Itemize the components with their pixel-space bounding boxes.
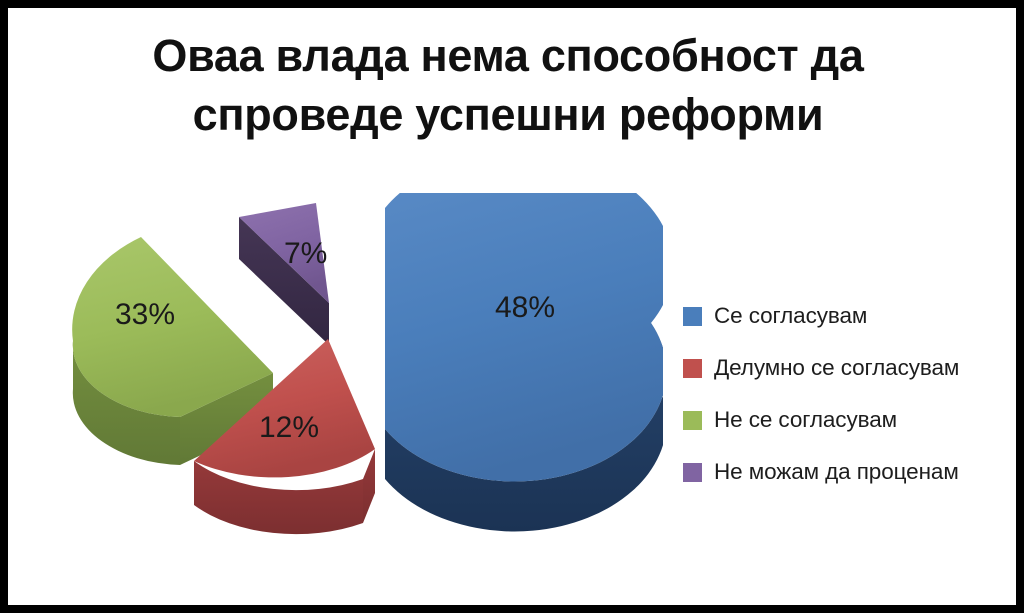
pie-chart-graphic: [63, 193, 663, 583]
legend-swatch-icon: [683, 463, 702, 482]
pie-slice-ne-mozam-da-procenam[interactable]: [239, 203, 329, 345]
pie-slice-blue-top: [385, 193, 663, 481]
legend-item-ne-mozam-da-procenam[interactable]: Не можам да проценам: [683, 446, 1003, 498]
pie-slice-se-soglasuvam[interactable]: [385, 193, 663, 531]
legend-label: Делумно се согласувам: [714, 355, 959, 381]
legend-item-se-soglasuvam[interactable]: Се согласувам: [683, 290, 1003, 342]
pie-slice-red-side-right: [363, 449, 375, 523]
legend-label: Не можам да проценам: [714, 459, 959, 485]
legend-label: Се согласувам: [714, 303, 867, 329]
image-border-frame: Оваа влада нема способност да спроведе у…: [0, 0, 1024, 613]
legend-swatch-icon: [683, 411, 702, 430]
legend-item-delumno-se-soglasuvam[interactable]: Делумно се согласувам: [683, 342, 1003, 394]
legend-swatch-icon: [683, 307, 702, 326]
chart-canvas: Оваа влада нема способност да спроведе у…: [8, 8, 1016, 605]
chart-legend: Се согласувам Делумно се согласувам Не с…: [683, 290, 1003, 498]
legend-label: Не се согласувам: [714, 407, 897, 433]
chart-title: Оваа влада нема способност да спроведе у…: [68, 26, 948, 145]
legend-swatch-icon: [683, 359, 702, 378]
chart-title-line-1: Оваа влада нема способност да: [68, 26, 948, 85]
legend-item-ne-se-soglasuvam[interactable]: Не се согласувам: [683, 394, 1003, 446]
pie-plot-area: 48% 12% 33% 7%: [63, 193, 663, 583]
chart-title-line-2: спроведе успешни реформи: [68, 85, 948, 144]
